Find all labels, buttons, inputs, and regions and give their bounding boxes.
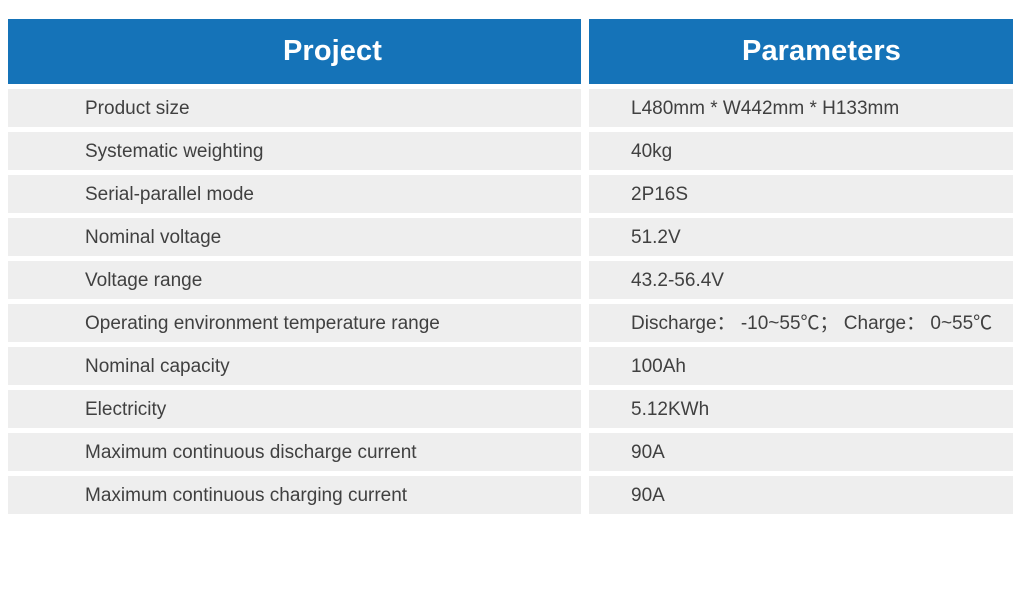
row-value: 100Ah: [589, 342, 1013, 385]
specifications-table: Project Parameters Product sizeL480mm * …: [8, 19, 1013, 514]
row-label: Maximum continuous discharge current: [8, 428, 589, 471]
table-header: Project Parameters: [8, 19, 1013, 84]
row-value: Discharge： -10~55℃； Charge： 0~55℃: [589, 299, 1013, 342]
table-row: Nominal voltage51.2V: [8, 213, 1013, 256]
row-value: 2P16S: [589, 170, 1013, 213]
row-label: Product size: [8, 84, 589, 127]
row-label: Electricity: [8, 385, 589, 428]
column-header-parameters: Parameters: [589, 19, 1013, 84]
row-value: 90A: [589, 471, 1013, 514]
column-header-project: Project: [8, 19, 589, 84]
row-value: 43.2-56.4V: [589, 256, 1013, 299]
table-row: Electricity5.12KWh: [8, 385, 1013, 428]
row-value: L480mm * W442mm * H133mm: [589, 84, 1013, 127]
table-row: Serial-parallel mode2P16S: [8, 170, 1013, 213]
table-body: Product sizeL480mm * W442mm * H133mmSyst…: [8, 84, 1013, 514]
row-label: Systematic weighting: [8, 127, 589, 170]
table-row: Maximum continuous discharge current90A: [8, 428, 1013, 471]
row-label: Voltage range: [8, 256, 589, 299]
table-row: Product sizeL480mm * W442mm * H133mm: [8, 84, 1013, 127]
table-row: Systematic weighting40kg: [8, 127, 1013, 170]
row-label: Nominal capacity: [8, 342, 589, 385]
row-value: 90A: [589, 428, 1013, 471]
row-label: Serial-parallel mode: [8, 170, 589, 213]
table-row: Nominal capacity100Ah: [8, 342, 1013, 385]
row-label: Nominal voltage: [8, 213, 589, 256]
row-value: 40kg: [589, 127, 1013, 170]
table-row: Voltage range43.2-56.4V: [8, 256, 1013, 299]
row-label: Maximum continuous charging current: [8, 471, 589, 514]
table-header-row: Project Parameters: [8, 19, 1013, 84]
row-value: 5.12KWh: [589, 385, 1013, 428]
table-row: Operating environment temperature rangeD…: [8, 299, 1013, 342]
row-label: Operating environment temperature range: [8, 299, 589, 342]
table-row: Maximum continuous charging current90A: [8, 471, 1013, 514]
row-value: 51.2V: [589, 213, 1013, 256]
